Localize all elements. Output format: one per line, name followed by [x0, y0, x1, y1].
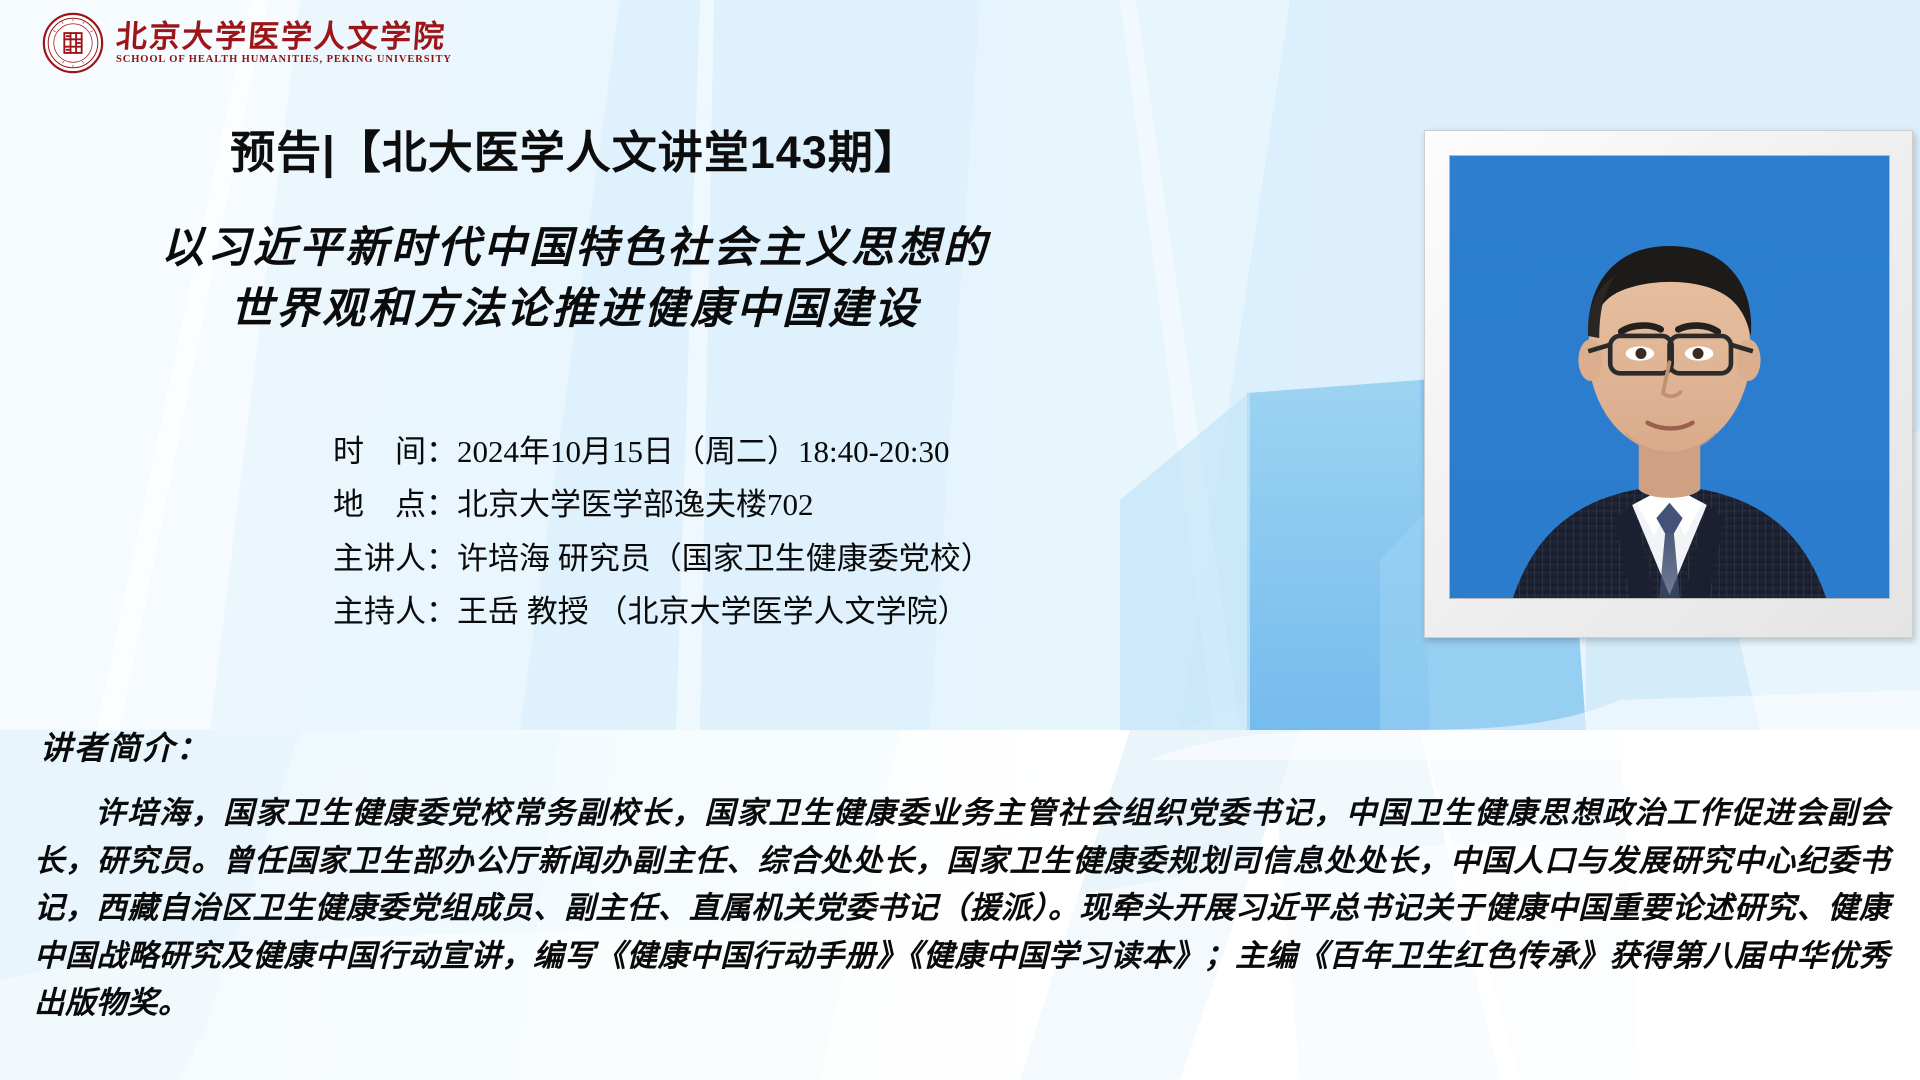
peking-university-seal-icon [42, 12, 104, 74]
speaker-portrait-photo [1450, 156, 1889, 599]
detail-row-speaker: 主讲人：许培海 研究员（国家卫生健康委党校） [333, 532, 992, 585]
detail-label-host: 主持人： [333, 585, 457, 638]
detail-row-host: 主持人：王岳 教授 （北京大学医学人文学院） [333, 585, 992, 638]
logo-wordmark: 北京大学医学人文学院 SCHOOL OF HEALTH HUMANITIES, … [116, 21, 452, 66]
portrait-inner-border [1449, 155, 1890, 599]
detail-value-time: 2024年10月15日（周二）18:40-20:30 [457, 434, 950, 469]
detail-label-location: 地 点： [333, 478, 457, 531]
bio-heading: 讲者简介： [40, 723, 210, 769]
detail-value-speaker: 许培海 研究员（国家卫生健康委党校） [457, 541, 992, 576]
main-title-line-2: 世界观和方法论推进健康中国建设 [0, 279, 1150, 340]
poster-canvas: 北京大学医学人文学院 SCHOOL OF HEALTH HUMANITIES, … [0, 0, 1920, 1080]
detail-value-location: 北京大学医学部逸夫楼702 [457, 487, 814, 522]
detail-label-time: 时 间： [333, 425, 457, 478]
logo-institution-cn: 北京大学医学人文学院 [115, 21, 453, 54]
event-details-block: 时 间：2024年10月15日（周二）18:40-20:30 地 点：北京大学医… [333, 425, 992, 638]
main-title-line-1: 以习近平新时代中国特色社会主义思想的 [0, 218, 1150, 279]
bio-body-text: 许培海，国家卫生健康委党校常务副校长，国家卫生健康委业务主管社会组织党委书记，中… [34, 790, 1890, 1028]
school-logo: 北京大学医学人文学院 SCHOOL OF HEALTH HUMANITIES, … [42, 12, 452, 74]
detail-row-location: 地 点：北京大学医学部逸夫楼702 [333, 478, 992, 531]
detail-row-time: 时 间：2024年10月15日（周二）18:40-20:30 [333, 425, 992, 478]
portrait-frame [1424, 130, 1913, 638]
detail-value-host: 王岳 教授 （北京大学医学人文学院） [457, 594, 969, 629]
logo-institution-en: SCHOOL OF HEALTH HUMANITIES, PEKING UNIV… [116, 54, 452, 65]
announcement-title: 预告|【北大医学人文讲堂143期】 [0, 116, 1150, 181]
main-title: 以习近平新时代中国特色社会主义思想的 世界观和方法论推进健康中国建设 [0, 218, 1150, 340]
detail-label-speaker: 主讲人： [333, 532, 457, 585]
